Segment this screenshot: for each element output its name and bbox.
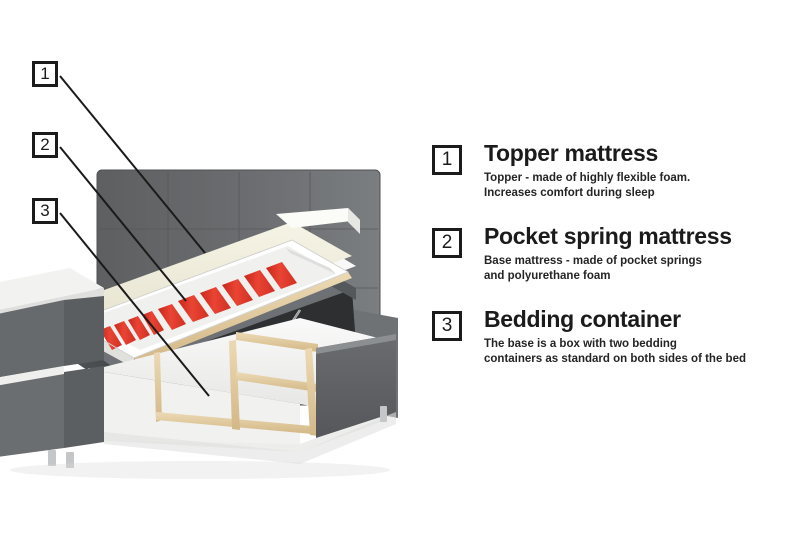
callout-marker-2[interactable]: 2 (32, 132, 58, 158)
legend-item-pocket-spring-mattress: 2 Pocket spring mattress Base mattress -… (432, 223, 800, 284)
legend-description-2: Base mattress - made of pocket springs a… (484, 254, 800, 284)
legend-item-topper-mattress: 1 Topper mattress Topper - made of highl… (432, 140, 800, 201)
legend-description-1-line-1: Topper - made of highly flexible foam. (484, 171, 800, 186)
legend-description-1-line-2: Increases comfort during sleep (484, 186, 800, 201)
legend-description-3-line-2: containers as standard on both sides of … (484, 352, 800, 367)
legend-item-bedding-container: 3 Bedding container The base is a box wi… (432, 306, 800, 367)
legend-title-3: Bedding container (484, 306, 800, 332)
legend-description-2-line-2: and polyurethane foam (484, 269, 800, 284)
legend-badge-1: 1 (432, 145, 462, 175)
legend-description-3: The base is a box with two bedding conta… (484, 337, 800, 367)
legend-title-1: Topper mattress (484, 140, 800, 166)
legend-text-2: Pocket spring mattress Base mattress - m… (484, 223, 800, 284)
callout-marker-1[interactable]: 1 (32, 61, 58, 87)
legend-text-3: Bedding container The base is a box with… (484, 306, 800, 367)
callout-marker-3[interactable]: 3 (32, 198, 58, 224)
infographic-canvas: 1 2 3 1 Topper mattress Topper - made of… (0, 0, 800, 533)
legend-description-1: Topper - made of highly flexible foam. I… (484, 171, 800, 201)
legend-badge-3: 3 (432, 311, 462, 341)
legend-badge-2: 2 (432, 228, 462, 258)
legend-description-2-line-1: Base mattress - made of pocket springs (484, 254, 800, 269)
legend-list: 1 Topper mattress Topper - made of highl… (432, 140, 800, 367)
legend-description-3-line-1: The base is a box with two bedding (484, 337, 800, 352)
legend-text-1: Topper mattress Topper - made of highly … (484, 140, 800, 201)
bed-cutaway-illustration (0, 0, 430, 533)
legend-title-2: Pocket spring mattress (484, 223, 800, 249)
